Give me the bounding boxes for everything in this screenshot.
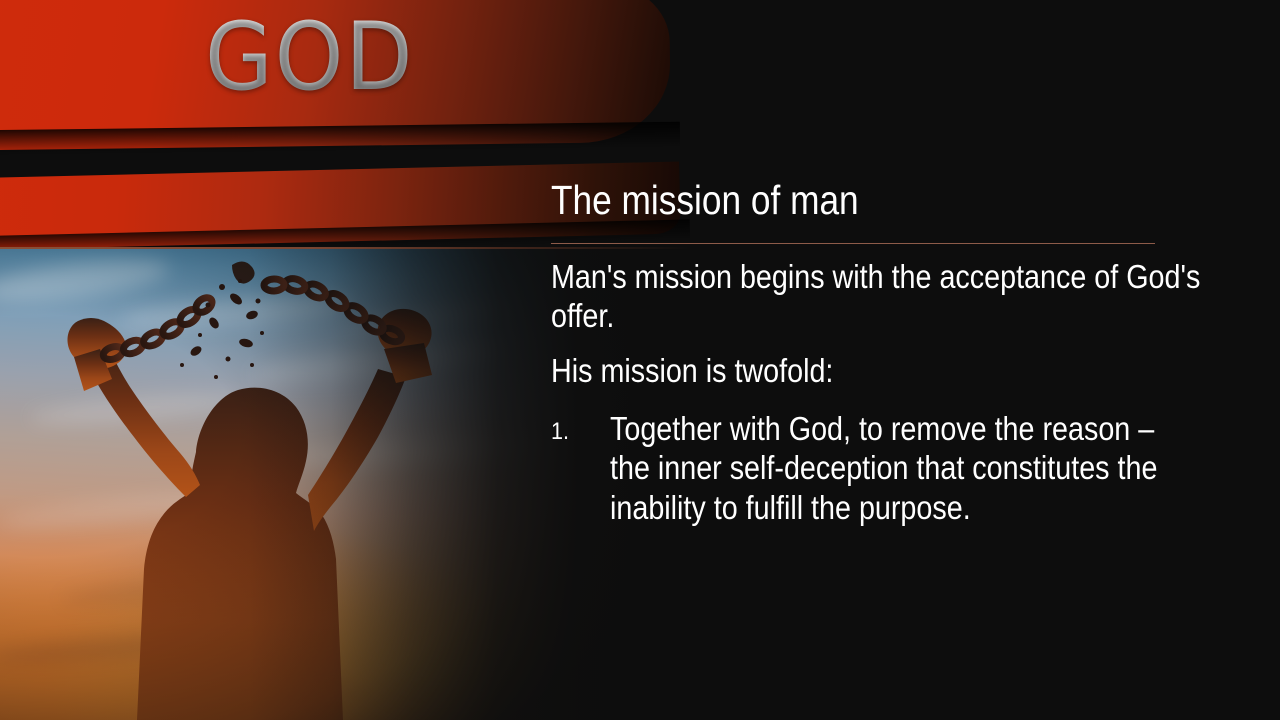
slide-body: Man's mission begins with the acceptance… [551, 258, 1263, 528]
body-paragraph: His mission is twofold: [551, 352, 1263, 391]
numbered-list: 1. Together with God, to remove the reas… [551, 409, 1263, 528]
list-item: 1. Together with God, to remove the reas… [551, 409, 1263, 528]
slide-heading-area: The mission of man [551, 178, 1251, 222]
banner-title: GOD [205, 11, 414, 105]
list-item-text: Together with God, to remove the reason … [610, 409, 1178, 528]
photo-top-edge-line [0, 247, 690, 249]
body-paragraph: Man's mission begins with the acceptance… [551, 258, 1263, 336]
page-title: The mission of man [551, 178, 1153, 222]
presentation-slide: GOD [0, 0, 1280, 720]
list-item-marker: 1. [551, 409, 604, 446]
heading-divider [551, 243, 1155, 244]
